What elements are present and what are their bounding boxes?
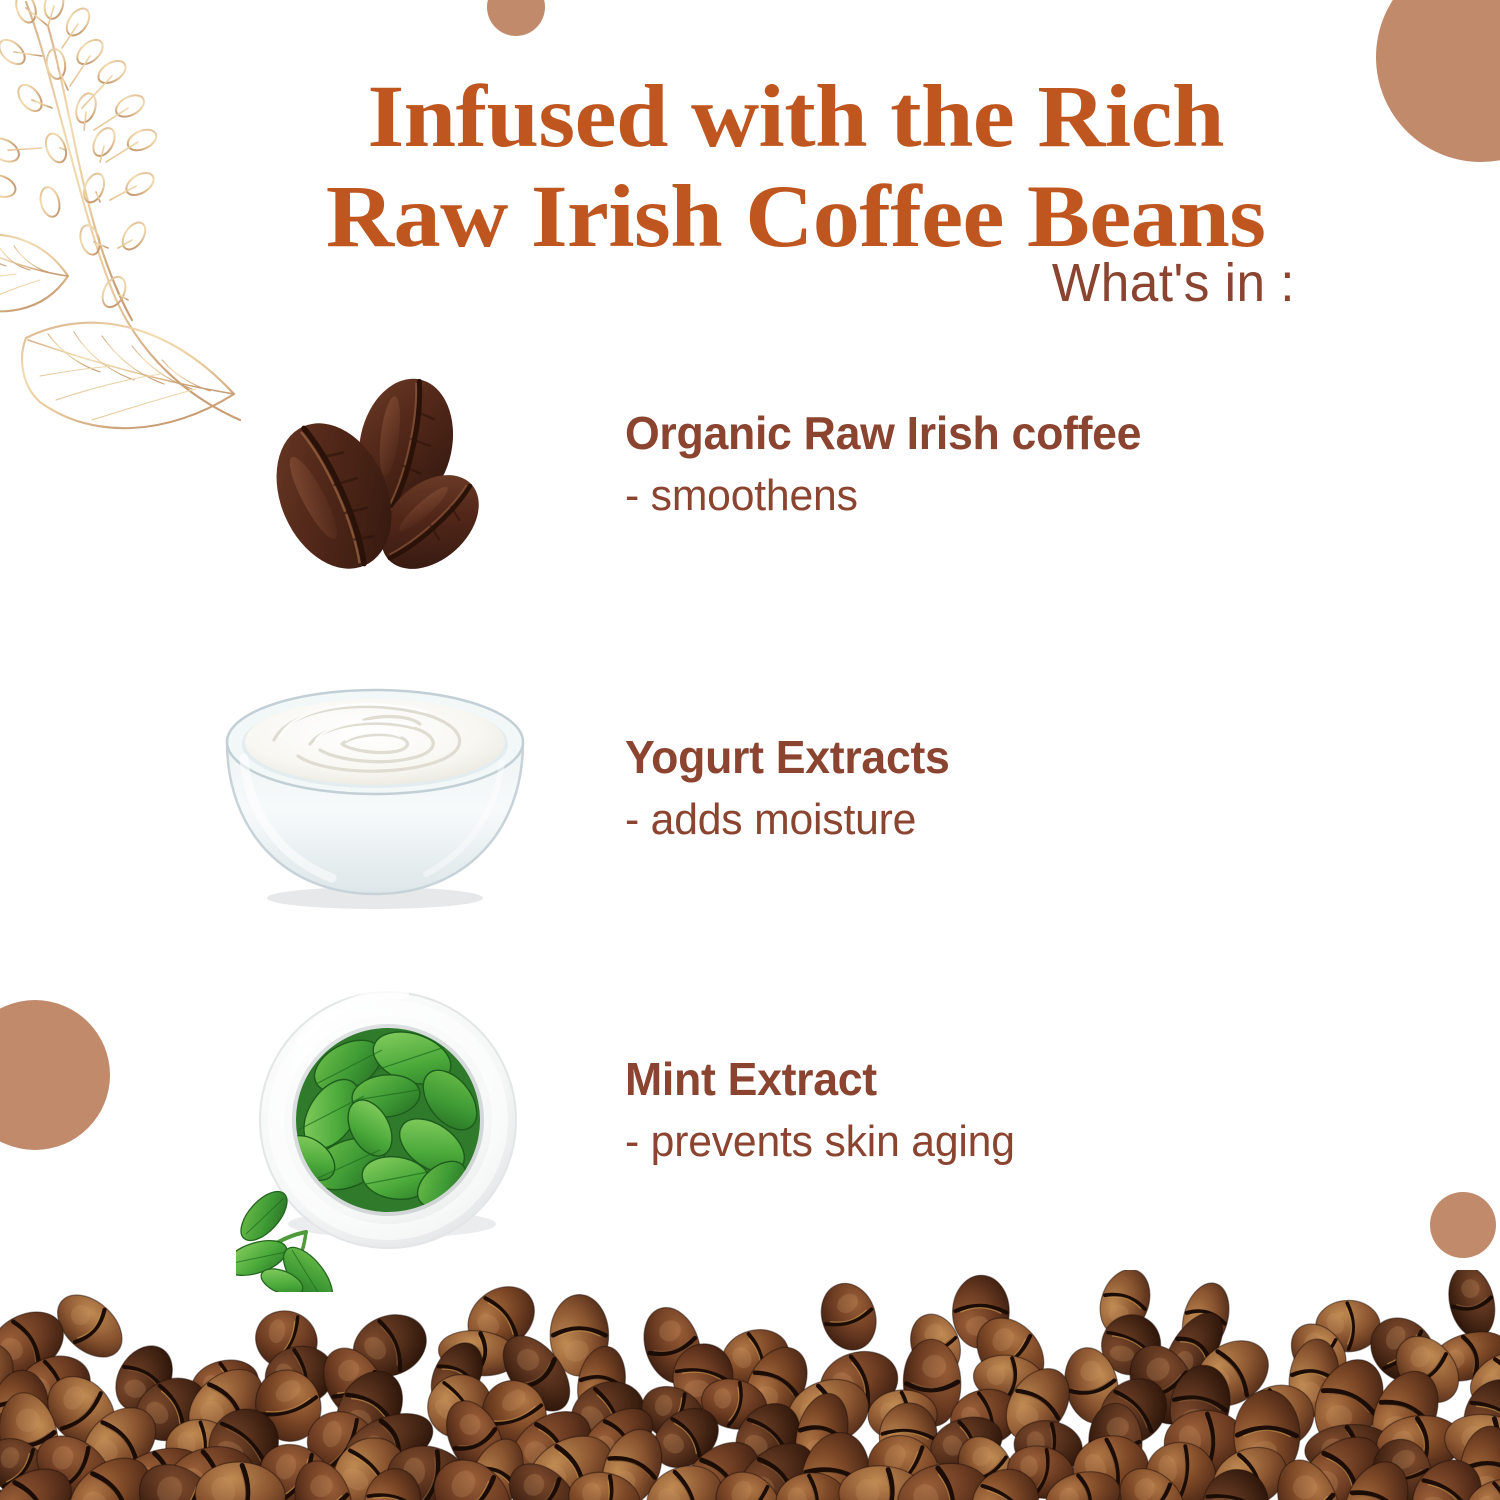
yogurt-bowl-icon [214,662,536,912]
ingredient-benefit: - prevents skin aging [625,1116,1362,1169]
ingredient-benefit: - adds moisture [625,794,1362,847]
ingredient-benefit: - smoothens [625,470,1362,523]
ingredient-block-mint: Mint Extract - prevents skin aging [625,1052,1385,1169]
ingredient-block-yogurt: Yogurt Extracts - adds moisture [625,730,1385,847]
ingredient-name: Mint Extract [625,1052,1362,1106]
page-title: Infused with the Rich Raw Irish Coffee B… [218,68,1373,267]
mint-bowl-icon [236,988,536,1292]
coffee-beans-icon [258,372,508,588]
headline-line-1: Infused with the Rich [218,68,1373,168]
ingredient-name: Organic Raw Irish coffee [625,406,1362,460]
decorative-circle-right-low [1430,1192,1496,1258]
decorative-circle-top-right [1376,0,1500,162]
ingredient-infographic-poster: Infused with the Rich Raw Irish Coffee B… [0,0,1500,1500]
subtitle-whats-in: What's in : [730,252,1295,314]
decorative-circle-left-mid [0,1000,110,1150]
roasted-coffee-beans-band [0,1270,1500,1500]
ingredient-name: Yogurt Extracts [625,730,1362,784]
decorative-circle-top-small [487,0,545,36]
ingredient-block-coffee: Organic Raw Irish coffee - smoothens [625,406,1385,523]
